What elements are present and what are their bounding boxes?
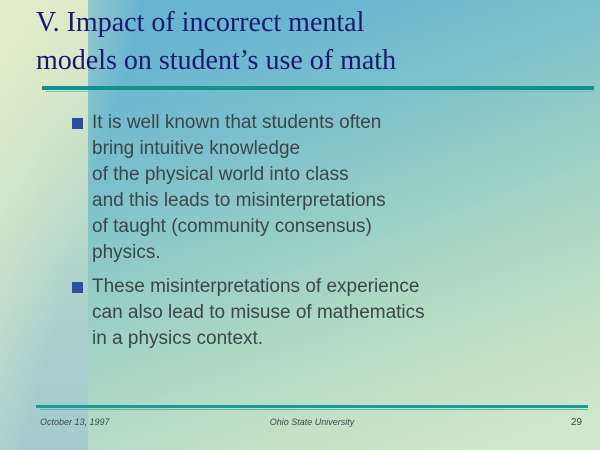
footer-divider-rule xyxy=(36,405,588,411)
slide-title: V. Impact of incorrect mental models on … xyxy=(36,4,576,80)
footer-organization: Ohio State University xyxy=(36,417,588,427)
square-bullet-icon xyxy=(72,282,83,293)
bullet-item: These misinterpretations of experience c… xyxy=(72,274,588,352)
slide-content: V. Impact of incorrect mental models on … xyxy=(0,0,600,450)
footer-divider-thick-line xyxy=(36,405,588,408)
presentation-slide: V. Impact of incorrect mental models on … xyxy=(0,0,600,450)
title-divider-rule xyxy=(42,86,594,93)
footer-page-number: 29 xyxy=(571,417,582,428)
footer-divider-thin-line xyxy=(40,409,588,410)
bullet-item: It is well known that students often bri… xyxy=(72,110,588,266)
slide-footer: October 13, 1997 Ohio State University 2… xyxy=(36,415,588,435)
title-divider-thin-line xyxy=(46,91,594,92)
title-divider-thick-line xyxy=(42,86,594,90)
square-bullet-icon xyxy=(72,118,83,129)
bullet-item-text: These misinterpretations of experience c… xyxy=(92,274,588,352)
bullet-item-text: It is well known that students often bri… xyxy=(92,110,588,266)
slide-body: It is well known that students often bri… xyxy=(72,110,588,352)
